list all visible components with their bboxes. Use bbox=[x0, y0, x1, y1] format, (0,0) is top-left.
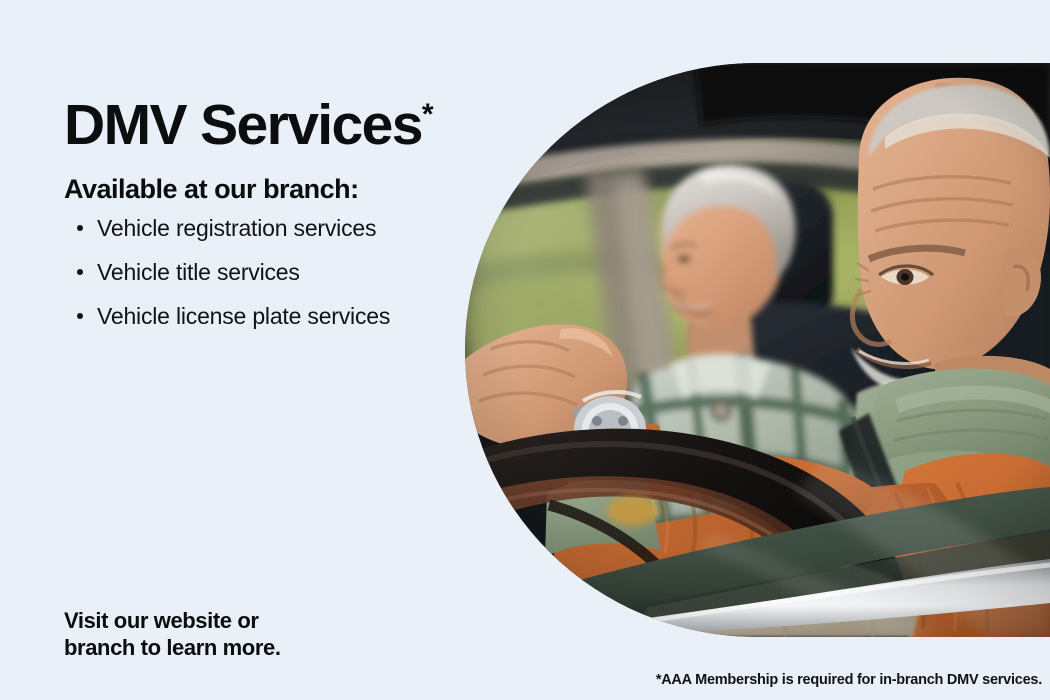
services-list: Vehicle registration services Vehicle ti… bbox=[64, 206, 390, 338]
list-item-label: Vehicle license plate services bbox=[97, 303, 390, 329]
call-to-action-text: Visit our website or branch to learn mor… bbox=[64, 607, 281, 661]
footnote-disclaimer: *AAA Membership is required for in-branc… bbox=[656, 672, 1042, 688]
page-title-footnote-marker: * bbox=[422, 98, 434, 131]
promo-banner: DMV Services* Available at our branch: V… bbox=[0, 0, 1050, 700]
bullet-icon bbox=[77, 225, 83, 231]
subheading: Available at our branch: bbox=[64, 174, 359, 205]
list-item: Vehicle registration services bbox=[64, 206, 390, 250]
list-item-label: Vehicle title services bbox=[97, 259, 300, 285]
photo-vignette bbox=[465, 63, 1050, 637]
list-item-label: Vehicle registration services bbox=[97, 215, 376, 241]
hero-photo-illustration bbox=[465, 63, 1050, 637]
page-title-text: DMV Services bbox=[64, 93, 422, 157]
hero-photo bbox=[465, 63, 1050, 637]
list-item: Vehicle license plate services bbox=[64, 294, 390, 338]
list-item: Vehicle title services bbox=[64, 250, 390, 294]
bullet-icon bbox=[77, 313, 83, 319]
bullet-icon bbox=[77, 269, 83, 275]
page-title: DMV Services* bbox=[64, 96, 434, 156]
